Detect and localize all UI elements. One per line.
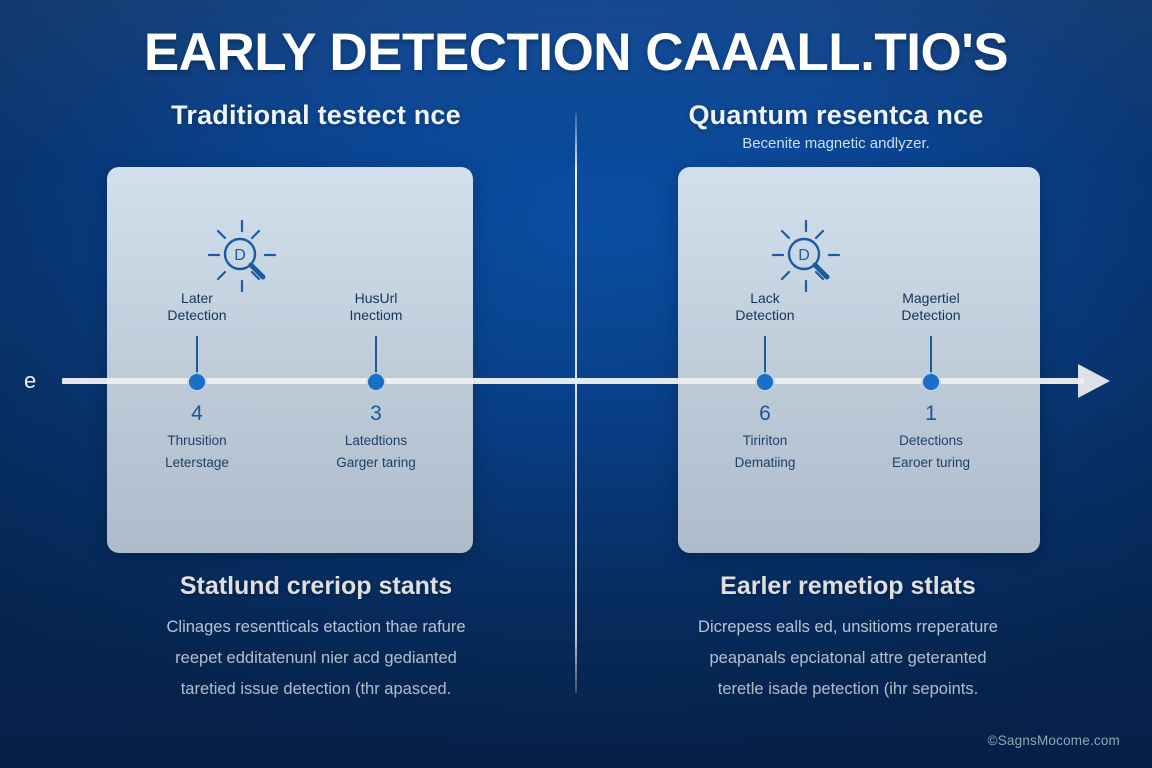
timeline-axis-label: e: [24, 368, 36, 394]
page-title: EARLY DETECTION CAAALL.TIO'S: [0, 22, 1152, 83]
timeline-node[interactable]: Later Detection 4 Thrusition Leterstage: [117, 290, 277, 324]
center-divider: [575, 113, 577, 693]
node-top-label-line1: Magertiel: [851, 290, 1011, 307]
left-caption-line1: Clinages resentticals etaction thae rafu…: [60, 612, 572, 643]
node-top-label: HusUrl Inectiom: [296, 290, 456, 324]
left-caption-line2: reepet edditatenunl nier acd gedianted: [60, 643, 572, 674]
node-top-label: Magertiel Detection: [851, 290, 1011, 324]
timeline-node[interactable]: HusUrl Inectiom 3 Latedtions Garger tari…: [296, 290, 456, 324]
node-bottom-label: Latedtions Garger taring: [296, 430, 456, 474]
node-dot: [923, 374, 939, 390]
node-number: 3: [296, 402, 456, 426]
node-top-label-line2: Detection: [117, 307, 277, 324]
node-bottom-label-line2: Garger taring: [296, 452, 456, 474]
node-bottom-label: Thrusition Leterstage: [117, 430, 277, 474]
node-bottom-label: Detections Earoer turing: [851, 430, 1011, 474]
timeline-node[interactable]: Lack Detection 6 Tiririton Dematiing: [685, 290, 845, 324]
right-caption-line3: teretle isade petection (ihr sepoints.: [592, 674, 1104, 705]
right-caption-line1: Dicrepess ealls ed, unsitioms rreperatur…: [592, 612, 1104, 643]
node-bottom-label-line1: Detections: [851, 430, 1011, 452]
timeline-node[interactable]: Magertiel Detection 1 Detections Earoer …: [851, 290, 1011, 324]
right-column-header: Quantum resentca nce Becenite magnetic a…: [580, 100, 1092, 152]
right-panel-card: D: [678, 167, 1040, 553]
node-bottom-label-line1: Latedtions: [296, 430, 456, 452]
left-column-heading: Traditional testect nce: [60, 100, 572, 131]
node-top-label-line2: Detection: [851, 307, 1011, 324]
svg-text:D: D: [234, 247, 246, 264]
right-caption-body: Dicrepess ealls ed, unsitioms rreperatur…: [592, 612, 1104, 705]
node-bottom-label-line2: Earoer turing: [851, 452, 1011, 474]
node-bottom-label: Tiririton Dematiing: [685, 430, 845, 474]
node-top-label: Later Detection: [117, 290, 277, 324]
node-top-label-line1: Lack: [685, 290, 845, 307]
right-column-heading: Quantum resentca nce: [580, 100, 1092, 131]
node-bottom-label-line2: Leterstage: [117, 452, 277, 474]
node-dot: [189, 374, 205, 390]
node-top-label: Lack Detection: [685, 290, 845, 324]
node-number: 6: [685, 402, 845, 426]
node-bottom-label-line2: Dematiing: [685, 452, 845, 474]
node-number: 1: [851, 402, 1011, 426]
left-column-header: Traditional testect nce: [60, 100, 572, 135]
left-caption-heading: Statlund creriop stants: [60, 572, 572, 601]
left-caption: Statlund creriop stants Clinages resentt…: [60, 572, 572, 705]
node-top-label-line1: HusUrl: [296, 290, 456, 307]
right-caption: Earler remetiop stlats Dicrepess ealls e…: [592, 572, 1104, 705]
infographic-poster: EARLY DETECTION CAAALL.TIO'S Traditional…: [0, 0, 1152, 768]
node-top-label-line1: Later: [117, 290, 277, 307]
watermark: ©SagnsMocome.com: [988, 733, 1120, 748]
node-bottom-label-line1: Tiririton: [685, 430, 845, 452]
right-arrowhead-icon: [1078, 364, 1110, 398]
right-column-subheading: Becenite magnetic andlyzer.: [580, 135, 1092, 152]
left-caption-body: Clinages resentticals etaction thae rafu…: [60, 612, 572, 705]
left-caption-line3: taretied issue detection (thr apasced.: [60, 674, 572, 705]
right-caption-line2: peapanals epciatonal attre geteranted: [592, 643, 1104, 674]
node-top-label-line2: Inectiom: [296, 307, 456, 324]
node-top-label-line2: Detection: [685, 307, 845, 324]
node-dot: [757, 374, 773, 390]
node-bottom-label-line1: Thrusition: [117, 430, 277, 452]
left-panel-card: D: [107, 167, 473, 553]
svg-text:D: D: [798, 247, 810, 264]
right-caption-heading: Earler remetiop stlats: [592, 572, 1104, 601]
node-dot: [368, 374, 384, 390]
node-number: 4: [117, 402, 277, 426]
